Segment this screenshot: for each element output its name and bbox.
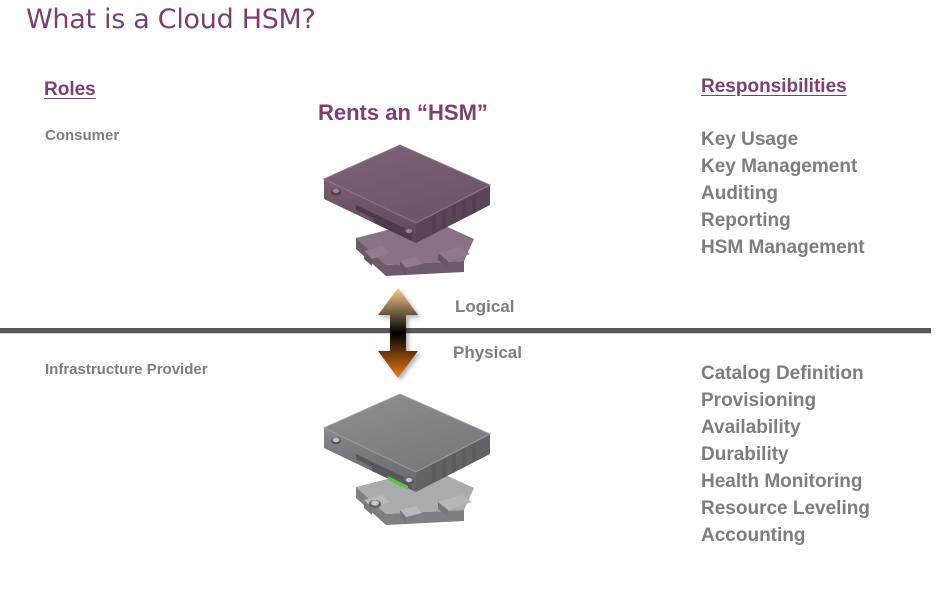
page-title: What is a Cloud HSM? [26,4,316,35]
list-item: Health Monitoring [701,468,870,495]
logical-physical-divider [0,328,931,333]
list-item: Durability [701,441,870,468]
up-down-arrow-icon [372,282,434,384]
list-item: Catalog Definition [701,360,870,387]
list-item: Reporting [701,207,865,234]
gray-server-appliance-illustration [312,382,502,527]
role-label-infrastructure-provider: Infrastructure Provider [45,361,208,378]
list-item: Provisioning [701,387,870,414]
list-item: HSM Management [701,234,865,261]
list-item: Availability [701,414,870,441]
roles-column-heading: Roles [44,79,96,101]
consumer-responsibilities-list: Key Usage Key Management Auditing Report… [701,126,865,261]
list-item: Auditing [701,180,865,207]
list-item: Accounting [701,522,870,549]
list-item: Key Usage [701,126,865,153]
infrastructure-provider-responsibilities-list: Catalog Definition Provisioning Availabi… [701,360,870,549]
list-item: Key Management [701,153,865,180]
device-chassis [324,145,490,243]
device-chassis [324,394,490,492]
responsibilities-column-heading: Responsibilities [701,76,847,98]
role-label-consumer: Consumer [45,127,119,144]
list-item: Resource Leveling [701,495,870,522]
rents-an-hsm-caption: Rents an “HSM” [318,100,488,126]
layer-label-physical: Physical [453,343,522,363]
layer-label-logical: Logical [455,297,515,317]
purple-hsm-appliance-illustration [312,133,502,278]
